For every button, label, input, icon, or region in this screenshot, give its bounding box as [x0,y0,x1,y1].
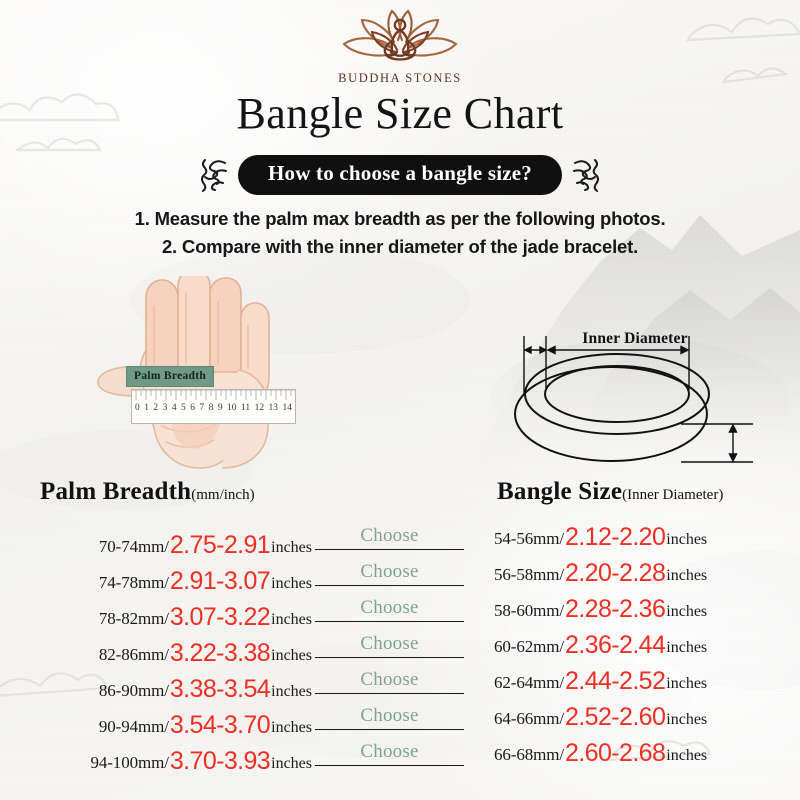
choose-option-button[interactable]: Choose [315,738,470,768]
ruler-graphic: 0 1 2 3 4 5 6 7 8 9 10 11 12 13 14 [131,389,296,424]
bangle-size-table: 54-56mm/2.12-2.20inches 56-58mm/2.20-2.2… [494,522,800,774]
ruler-mark: 14 [283,403,293,413]
table-row: 60-62mm/2.36-2.44inches [494,630,800,666]
palm-inch-unit: inches [271,719,312,736]
page-title: Bangle Size Chart [0,88,800,139]
ruler-mark: 1 [144,403,149,413]
right-header-main: Bangle Size [497,478,622,505]
palm-inch-value: 3.54-3.70 [170,711,270,739]
choose-underline [315,693,464,694]
table-row: 62-64mm/2.44-2.52inches [494,666,800,702]
palm-mm-value: 78-82mm/ [99,609,169,628]
palm-mm-value: 70-74mm/ [99,537,169,556]
ruler-mark: 4 [172,403,177,413]
table-row: 54-56mm/2.12-2.20inches [494,522,800,558]
bangle-ring-icon [505,328,765,478]
choose-label: Choose [315,597,464,619]
table-row: 86-90mm/3.38-3.54inches Choose [0,666,470,702]
table-row: 58-60mm/2.28-2.36inches [494,594,800,630]
bangle-inch-unit: inches [666,567,707,585]
palm-inch-value: 2.75-2.91 [170,531,270,559]
palm-row-label: 78-82mm/3.07-3.22inches [0,602,312,631]
instruction-step-2: 2. Compare with the inner diameter of th… [0,233,800,261]
palm-inch-value: 3.22-3.38 [170,639,270,667]
bangle-mm-value: 60-62mm/ [494,637,564,657]
ruler-mark: 10 [227,403,237,413]
ruler-mark: 8 [209,403,214,413]
table-row: 94-100mm/3.70-3.93inches Choose [0,738,470,774]
choose-label: Choose [315,633,464,655]
choose-option-button[interactable]: Choose [315,666,470,696]
scroll-flourish-icon [199,155,229,195]
palm-mm-value: 94-100mm/ [90,753,168,772]
ruler-mark: 7 [199,403,204,413]
lotus-meditation-icon [336,8,464,70]
palm-inch-unit: inches [271,575,312,592]
left-header-main: Palm Breadth [40,478,191,505]
palm-mm-value: 86-90mm/ [99,681,169,700]
ruler-mark: 5 [181,403,186,413]
choose-option-button[interactable]: Choose [315,522,470,552]
palm-inch-unit: inches [271,647,312,664]
choose-option-button[interactable]: Choose [315,594,470,624]
bangle-inch-value: 2.20-2.28 [565,559,665,588]
instruction-steps: 1. Measure the palm max breadth as per t… [0,205,800,261]
left-table-header: Palm Breadth(mm/inch) [40,478,255,506]
palm-row-label: 90-94mm/3.54-3.70inches [0,710,312,739]
palm-breadth-table: 70-74mm/2.75-2.91inches Choose 74-78mm/2… [0,522,470,774]
brand-logo: BUDDHA STONES [0,8,800,86]
palm-row-label: 70-74mm/2.75-2.91inches [0,530,312,559]
bangle-inch-value: 2.12-2.20 [565,523,665,552]
choose-label: Choose [315,669,464,691]
choose-underline [315,621,464,622]
ruler-mark: 13 [269,403,279,413]
choose-underline [315,585,464,586]
palm-row-label: 86-90mm/3.38-3.54inches [0,674,312,703]
palm-mm-value: 82-86mm/ [99,645,169,664]
bangle-mm-value: 62-64mm/ [494,673,564,693]
palm-row-label: 94-100mm/3.70-3.93inches [0,746,312,775]
choose-label: Choose [315,741,464,763]
palm-breadth-badge: Palm Breadth [126,366,214,387]
size-chart-page: BUDDHA STONES Bangle Size Chart How to c… [0,0,800,800]
table-row: 64-66mm/2.52-2.60inches [494,702,800,738]
table-row: 74-78mm/2.91-3.07inches Choose [0,558,470,594]
choose-option-button[interactable]: Choose [315,630,470,660]
choose-label: Choose [315,705,464,727]
ruler-mark: 6 [190,403,195,413]
table-row: 78-82mm/3.07-3.22inches Choose [0,594,470,630]
choose-underline [315,765,464,766]
left-header-sub: (mm/inch) [191,487,254,503]
ruler-ticks [132,390,295,404]
question-banner: How to choose a bangle size? [0,155,800,195]
palm-inch-value: 2.91-3.07 [170,567,270,595]
palm-inch-unit: inches [271,539,312,556]
palm-mm-value: 74-78mm/ [99,573,169,592]
choose-label: Choose [315,561,464,583]
bangle-inch-value: 2.52-2.60 [565,703,665,732]
table-row: 66-68mm/2.60-2.68inches [494,738,800,774]
palm-mm-value: 90-94mm/ [99,717,169,736]
instruction-step-1: 1. Measure the palm max breadth as per t… [0,205,800,233]
bangle-inch-value: 2.36-2.44 [565,631,665,660]
bangle-inch-value: 2.44-2.52 [565,667,665,696]
table-row: 56-58mm/2.20-2.28inches [494,558,800,594]
choose-underline [315,657,464,658]
bangle-inch-value: 2.60-2.68 [565,739,665,768]
palm-row-label: 74-78mm/2.91-3.07inches [0,566,312,595]
table-row: 90-94mm/3.54-3.70inches Choose [0,702,470,738]
bangle-inch-unit: inches [666,639,707,657]
palm-inch-value: 3.38-3.54 [170,675,270,703]
choose-option-button[interactable]: Choose [315,702,470,732]
table-row: 70-74mm/2.75-2.91inches Choose [0,522,470,558]
table-row: 82-86mm/3.22-3.38inches Choose [0,630,470,666]
bangle-mm-value: 54-56mm/ [494,529,564,549]
ruler-mark: 12 [255,403,265,413]
bangle-mm-value: 64-66mm/ [494,709,564,729]
bangle-inch-unit: inches [666,603,707,621]
choose-underline [315,549,464,550]
bangle-inch-unit: inches [666,747,707,765]
choose-label: Choose [315,525,464,547]
bangle-mm-value: 58-60mm/ [494,601,564,621]
palm-inch-value: 3.07-3.22 [170,603,270,631]
ruler-mark: 9 [218,403,223,413]
palm-inch-unit: inches [271,611,312,628]
right-table-header: Bangle Size(Inner Diameter) [497,478,723,506]
ruler-mark: 11 [241,403,250,413]
ruler-mark: 3 [163,403,168,413]
palm-inch-unit: inches [271,755,312,772]
bangle-inch-unit: inches [666,675,707,693]
bangle-inch-unit: inches [666,711,707,729]
palm-inch-unit: inches [271,683,312,700]
ruler-numbers: 0 1 2 3 4 5 6 7 8 9 10 11 12 13 14 [132,403,295,413]
brand-name: BUDDHA STONES [338,71,462,86]
bangle-inch-unit: inches [666,531,707,549]
ruler-mark: 0 [135,403,140,413]
right-header-sub: (Inner Diameter) [622,487,723,503]
palm-inch-value: 3.70-3.93 [170,747,270,775]
bangle-inch-value: 2.28-2.36 [565,595,665,624]
bangle-illustration [505,328,765,478]
question-pill: How to choose a bangle size? [238,155,562,194]
bangle-mm-value: 56-58mm/ [494,565,564,585]
choose-option-button[interactable]: Choose [315,558,470,588]
choose-underline [315,729,464,730]
ruler-mark: 2 [153,403,158,413]
palm-row-label: 82-86mm/3.22-3.38inches [0,638,312,667]
scroll-flourish-icon-right [571,155,601,195]
bangle-mm-value: 66-68mm/ [494,745,564,765]
